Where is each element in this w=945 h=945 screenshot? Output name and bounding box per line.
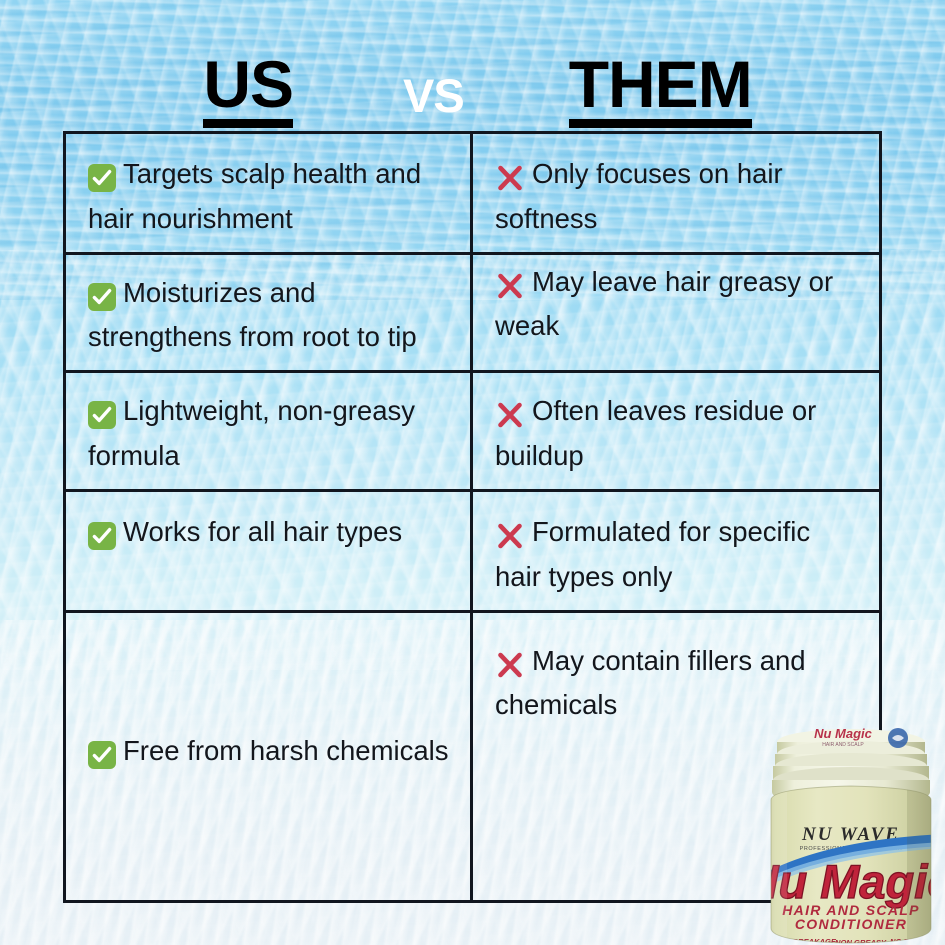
table-row: Lightweight, non-greasy formula Often le… <box>66 373 879 492</box>
table-row: Moisturizes and strengthens from root to… <box>66 255 879 374</box>
jar-claim-text: NON GREASY <box>835 938 887 945</box>
table-cell-text: May contain fillers and chemicals <box>495 645 806 721</box>
table-cell-text: Lightweight, non-greasy formula <box>88 395 415 471</box>
table-cell-them: Only focuses on hair softness <box>473 134 879 252</box>
check-mark-icon <box>88 522 116 550</box>
table-cell-text: Moisturizes and strengthens from root to… <box>88 277 417 353</box>
table-cell-us: Works for all hair types <box>66 492 473 610</box>
jar-lid-brand-text: Nu Magic <box>814 726 873 741</box>
table-cell-them: May leave hair greasy or weak <box>473 255 879 371</box>
table-cell-us: Targets scalp health and hair nourishmen… <box>66 134 473 252</box>
header-vs-label: VS <box>403 72 464 128</box>
table-cell-them: Formulated for specific hair types only <box>473 492 879 610</box>
table-cell-text: Formulated for specific hair types only <box>495 516 810 592</box>
table-cell-us: Moisturizes and strengthens from root to… <box>66 255 473 371</box>
table-cell-text: Works for all hair types <box>123 516 402 547</box>
cross-mark-icon <box>495 520 525 550</box>
check-mark-icon <box>88 283 116 311</box>
table-cell-us: Lightweight, non-greasy formula <box>66 373 473 489</box>
cross-mark-icon <box>495 270 525 300</box>
jar-line2-text: CONDITIONER <box>795 916 907 932</box>
check-mark-icon <box>88 741 116 769</box>
table-cell-text: Free from harsh chemicals <box>123 735 449 766</box>
cross-mark-icon <box>495 649 525 679</box>
comparison-header: US VS THEM <box>0 46 945 128</box>
svg-text:HAIR AND SCALP: HAIR AND SCALP <box>822 742 864 748</box>
table-row: Works for all hair types Formulated for … <box>66 492 879 613</box>
cross-mark-icon <box>495 399 525 429</box>
table-cell-text: Often leaves residue or buildup <box>495 395 816 471</box>
cross-mark-icon <box>495 162 525 192</box>
check-mark-icon <box>88 401 116 429</box>
header-them-label: THEM <box>569 51 752 128</box>
check-mark-icon <box>88 164 116 192</box>
product-jar-image: Nu Magic HAIR AND SCALP NU WAVE PROFESSI… <box>757 722 945 945</box>
table-cell-them: Often leaves residue or buildup <box>473 373 879 489</box>
table-cell-us: Free from harsh chemicals <box>66 613 473 901</box>
table-cell-text: May leave hair greasy or weak <box>495 266 833 342</box>
table-cell-text: Only focuses on hair softness <box>495 158 783 234</box>
jar-body: NU WAVE PROFESSIONAL CARE FOR HAIR Nu Ma… <box>757 782 945 945</box>
table-row: Targets scalp health and hair nourishmen… <box>66 134 879 255</box>
table-cell-text: Targets scalp health and hair nourishmen… <box>88 158 421 234</box>
header-us-label: US <box>203 51 293 128</box>
